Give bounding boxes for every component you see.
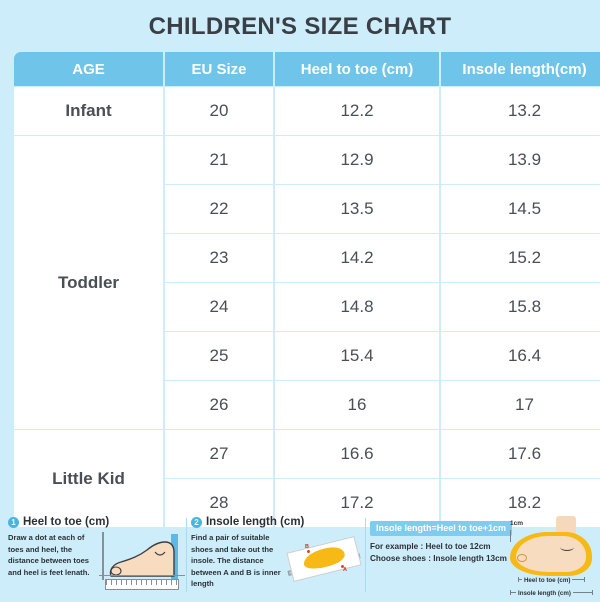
toe-icon bbox=[517, 554, 527, 562]
cell-eu-size: 25 bbox=[165, 332, 273, 380]
instruction-panel-insole-length: 2 Insole length (cm) Find a pair of suit… bbox=[187, 508, 365, 600]
panel-2-text: Find a pair of suitable shoes and take o… bbox=[191, 532, 287, 590]
panel-3-text-block: Insole length=Heel to toe+1cm For exampl… bbox=[370, 516, 504, 565]
age-group-infant: Infant bbox=[14, 87, 163, 135]
panel-1-body: Draw a dot at each of toes and heel, the… bbox=[8, 532, 186, 590]
one-cm-label: 1cm bbox=[510, 520, 523, 527]
panel-2-heading: 2 Insole length (cm) bbox=[191, 516, 365, 528]
insole-diagram-icon: A B bbox=[287, 532, 365, 590]
table-body: Infant 20 12.2 13.2 Toddler 21 12.9 13.9… bbox=[14, 87, 600, 527]
marker-b-label: B bbox=[305, 544, 309, 550]
dimension-label-heel-to-toe: Heel to toe (cm) bbox=[522, 577, 572, 584]
size-chart-container: AGE EU Size Heel to toe (cm) Insole leng… bbox=[0, 51, 600, 528]
ankle-curve-icon bbox=[560, 543, 574, 551]
cell-heel-to-toe: 14.2 bbox=[275, 234, 439, 282]
column-header-age: AGE bbox=[14, 52, 163, 86]
cell-eu-size: 23 bbox=[165, 234, 273, 282]
dimension-cap bbox=[510, 590, 511, 595]
cell-heel-to-toe: 12.2 bbox=[275, 87, 439, 135]
table-header-row: AGE EU Size Heel to toe (cm) Insole leng… bbox=[14, 52, 600, 86]
age-group-toddler: Toddler bbox=[14, 136, 163, 429]
foot-top-view-icon: 1cm Heel to toe (cm) Insole length (cm) bbox=[504, 516, 600, 602]
cell-insole-length: 13.9 bbox=[441, 136, 600, 184]
size-chart-table: AGE EU Size Heel to toe (cm) Insole leng… bbox=[12, 51, 600, 528]
panel-1-heading: 1 Heel to toe (cm) bbox=[8, 516, 186, 528]
cell-eu-size: 21 bbox=[165, 136, 273, 184]
cell-heel-to-toe: 14.8 bbox=[275, 283, 439, 331]
example-heel-to-toe: For example : Heel to toe 12cm bbox=[370, 541, 504, 553]
panel-2-title: Insole length (cm) bbox=[206, 516, 304, 528]
cell-insole-length: 13.2 bbox=[441, 87, 600, 135]
table-row: Little Kid 27 16.6 17.6 bbox=[14, 430, 600, 478]
column-header-heel-to-toe: Heel to toe (cm) bbox=[275, 52, 439, 86]
table-row: Infant 20 12.2 13.2 bbox=[14, 87, 600, 135]
cell-eu-size: 22 bbox=[165, 185, 273, 233]
panel-1-text: Draw a dot at each of toes and heel, the… bbox=[8, 532, 93, 578]
cell-heel-to-toe: 12.9 bbox=[275, 136, 439, 184]
foot-shape-icon bbox=[516, 536, 586, 572]
dimension-cap bbox=[592, 590, 593, 595]
cell-insole-length: 15.2 bbox=[441, 234, 600, 282]
panel-3-body: Insole length=Heel to toe+1cm For exampl… bbox=[370, 516, 600, 602]
cell-heel-to-toe: 15.4 bbox=[275, 332, 439, 380]
marker-a-label: A bbox=[343, 567, 347, 573]
dimension-label-insole-length: Insole length (cm) bbox=[516, 590, 573, 597]
dimension-cap bbox=[518, 577, 519, 582]
ground-line bbox=[99, 575, 185, 577]
panel-1-title: Heel to toe (cm) bbox=[23, 516, 109, 528]
cell-heel-to-toe: 13.5 bbox=[275, 185, 439, 233]
foot-side-view-icon bbox=[95, 532, 186, 590]
panel-2-body: Find a pair of suitable shoes and take o… bbox=[191, 532, 365, 590]
step-number-2-icon: 2 bbox=[191, 517, 202, 528]
instruction-panel-formula: Insole length=Heel to toe+1cm For exampl… bbox=[366, 508, 600, 600]
measurement-instructions: 1 Heel to toe (cm) Draw a dot at each of… bbox=[0, 508, 600, 600]
page-title: CHILDREN'S SIZE CHART bbox=[0, 0, 600, 51]
marker-b-dot-icon bbox=[307, 550, 310, 553]
cell-insole-length: 14.5 bbox=[441, 185, 600, 233]
cell-eu-size: 27 bbox=[165, 430, 273, 478]
dimension-cap bbox=[584, 577, 585, 582]
ruler-icon bbox=[105, 579, 179, 590]
cell-heel-to-toe: 16 bbox=[275, 381, 439, 429]
cell-eu-size: 20 bbox=[165, 87, 273, 135]
formula-banner: Insole length=Heel to toe+1cm bbox=[370, 521, 512, 536]
example-choose-shoes: Choose shoes : Insole length 13cm bbox=[370, 553, 504, 565]
step-number-1-icon: 1 bbox=[8, 517, 19, 528]
column-header-eu-size: EU Size bbox=[165, 52, 273, 86]
one-cm-tick-icon bbox=[510, 530, 511, 542]
cell-insole-length: 17 bbox=[441, 381, 600, 429]
cell-insole-length: 17.6 bbox=[441, 430, 600, 478]
instruction-panel-heel-to-toe: 1 Heel to toe (cm) Draw a dot at each of… bbox=[0, 508, 186, 600]
cell-eu-size: 24 bbox=[165, 283, 273, 331]
cell-insole-length: 16.4 bbox=[441, 332, 600, 380]
cell-insole-length: 15.8 bbox=[441, 283, 600, 331]
column-header-insole-length: Insole length(cm) bbox=[441, 52, 600, 86]
table-header: AGE EU Size Heel to toe (cm) Insole leng… bbox=[14, 52, 600, 86]
cell-eu-size: 26 bbox=[165, 381, 273, 429]
table-row: Toddler 21 12.9 13.9 bbox=[14, 136, 600, 184]
cell-heel-to-toe: 16.6 bbox=[275, 430, 439, 478]
